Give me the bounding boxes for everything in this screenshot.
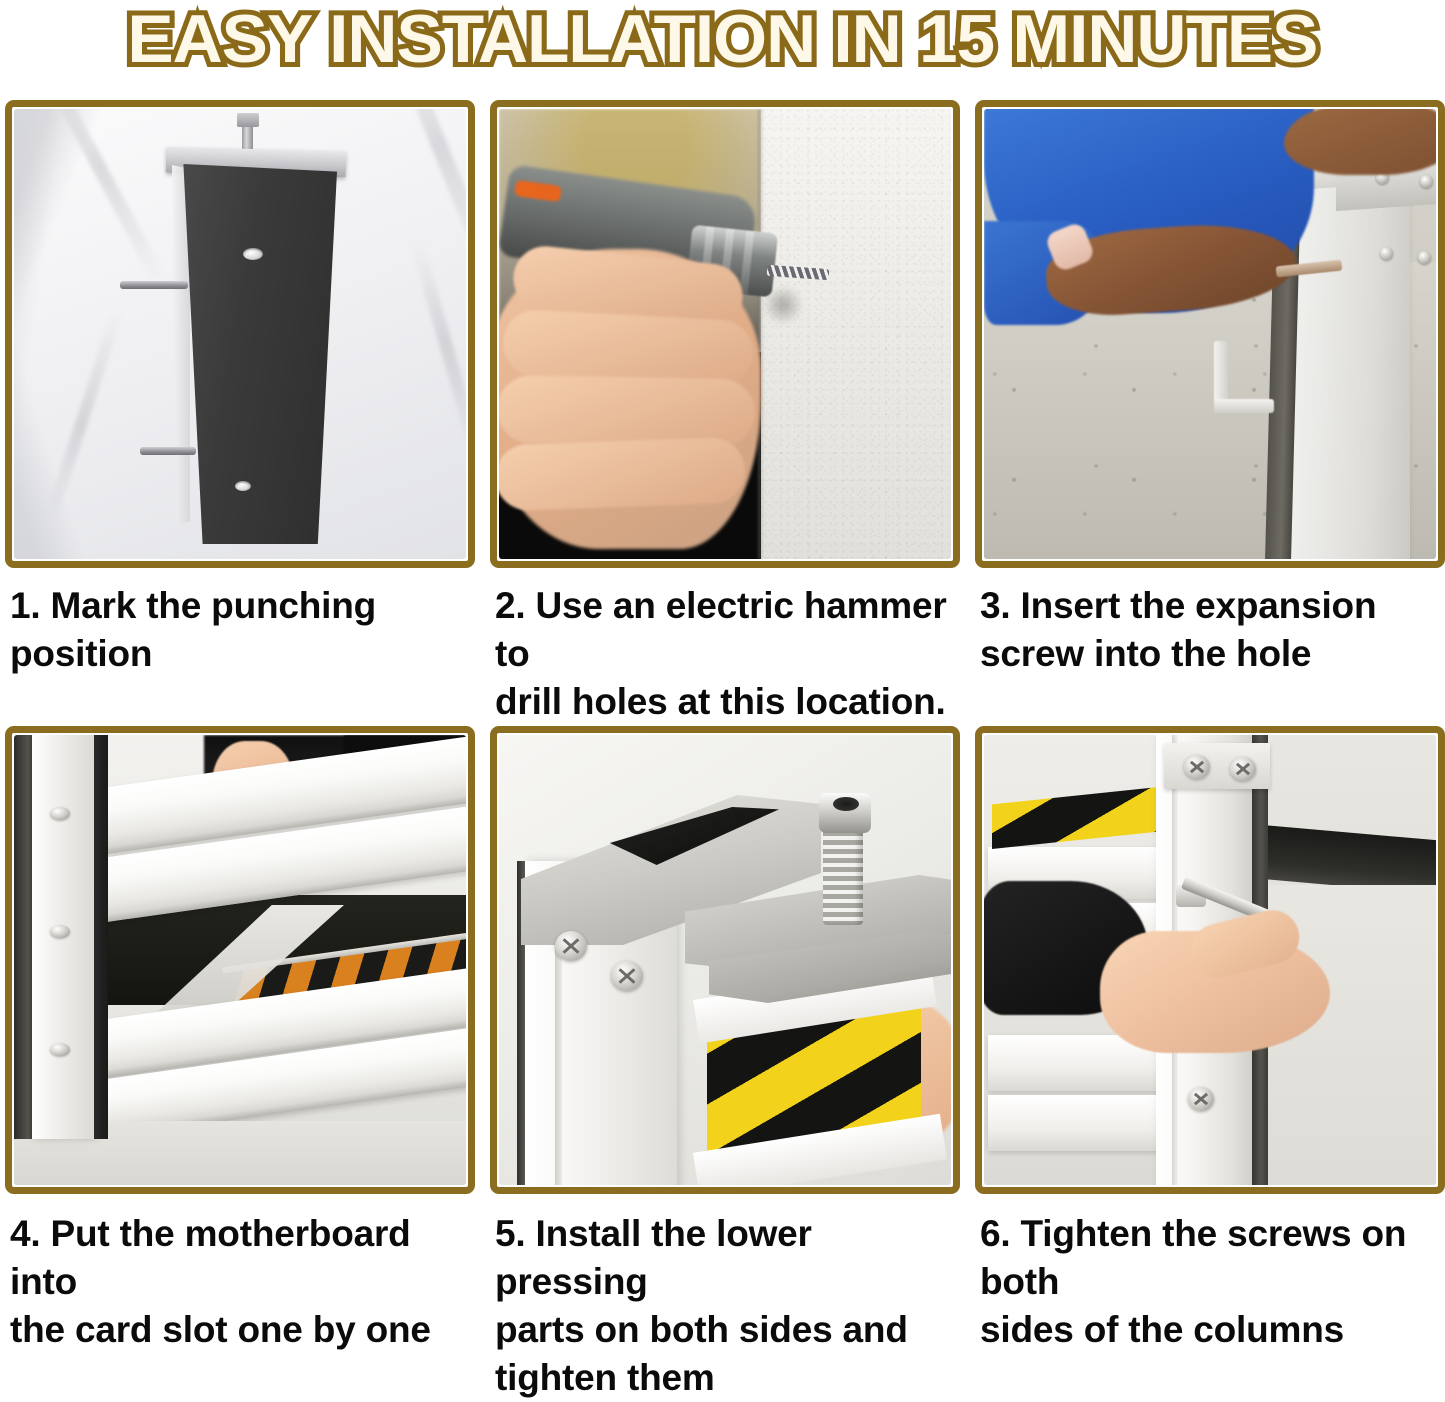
- hex-bolt-socket: [833, 797, 859, 811]
- worker-upper-hand: [1284, 109, 1436, 175]
- protruding-screw: [120, 281, 188, 289]
- protruding-screw: [140, 447, 196, 455]
- black-template-plate: [177, 164, 337, 544]
- bracket-screw: [1418, 251, 1431, 264]
- step-3-photo-insert-expansion-screw: [984, 109, 1436, 559]
- bracket-screw: [1420, 175, 1433, 188]
- column-screw: [1184, 755, 1210, 779]
- white-textured-wall: [761, 109, 951, 559]
- step-5-image-frame: [490, 726, 960, 1194]
- step-1-photo-mark-punching-position: [14, 109, 466, 559]
- header-banner: EASY INSTALLATION IN 15 MINUTES: [0, 0, 1445, 100]
- column-dark-edge: [14, 735, 34, 1139]
- step-2-image-frame: [490, 100, 960, 568]
- phillips-screw: [611, 961, 643, 991]
- drill-dust: [763, 285, 803, 325]
- marking-hole: [243, 248, 263, 260]
- wall-corner-edge: [758, 109, 764, 559]
- step-card-6: 6. Tighten the screws on both sides of t…: [975, 726, 1445, 1354]
- column-screw: [50, 807, 70, 820]
- step-card-1: 1. Mark the punching position: [5, 100, 475, 702]
- marking-hole: [235, 481, 251, 491]
- column-screw: [1188, 1087, 1214, 1111]
- step-2-caption: 2. Use an electric hammer to drill holes…: [490, 568, 960, 726]
- hex-allen-key: [1214, 341, 1228, 413]
- step-6-photo-tighten-screws: [984, 735, 1436, 1185]
- column-screw: [1230, 757, 1256, 781]
- step-card-2: 2. Use an electric hammer to drill holes…: [490, 100, 960, 726]
- finger: [499, 375, 756, 447]
- steps-row-bottom: 4. Put the motherboard into the card slo…: [5, 726, 1440, 1402]
- phillips-screw: [555, 931, 587, 961]
- step-card-5: 5. Install the lower pressing parts on b…: [490, 726, 960, 1402]
- step-card-4: 4. Put the motherboard into the card slo…: [5, 726, 475, 1354]
- step-4-photo-motherboard-into-card-slot: [14, 735, 466, 1185]
- step-3-caption: 3. Insert the expansion screw into the h…: [975, 568, 1445, 702]
- installation-steps-grid: 1. Mark the punching position: [0, 100, 1445, 1402]
- step-5-photo-install-lower-pressing-parts: [499, 735, 951, 1185]
- finger: [499, 437, 746, 512]
- page-title: EASY INSTALLATION IN 15 MINUTES: [127, 2, 1317, 76]
- step-card-3: 3. Insert the expansion screw into the h…: [975, 100, 1445, 702]
- column-card-slot: [94, 735, 108, 1139]
- step-6-caption: 6. Tighten the screws on both sides of t…: [975, 1194, 1445, 1354]
- barrier-board: [988, 1095, 1160, 1151]
- step-6-image-frame: [975, 726, 1445, 1194]
- step-4-caption: 4. Put the motherboard into the card slo…: [5, 1194, 475, 1354]
- step-1-image-frame: [5, 100, 475, 568]
- step-2-photo-drill-holes: [499, 109, 951, 559]
- step-1-caption: 1. Mark the punching position: [5, 568, 475, 702]
- top-bolt-head: [237, 113, 259, 127]
- step-4-image-frame: [5, 726, 475, 1194]
- column-screw: [50, 925, 70, 938]
- bracket-screw: [1380, 247, 1393, 260]
- steps-row-top: 1. Mark the punching position: [5, 100, 1440, 726]
- column-screw: [50, 1043, 70, 1056]
- step-3-image-frame: [975, 100, 1445, 568]
- step-5-caption: 5. Install the lower pressing parts on b…: [490, 1194, 960, 1402]
